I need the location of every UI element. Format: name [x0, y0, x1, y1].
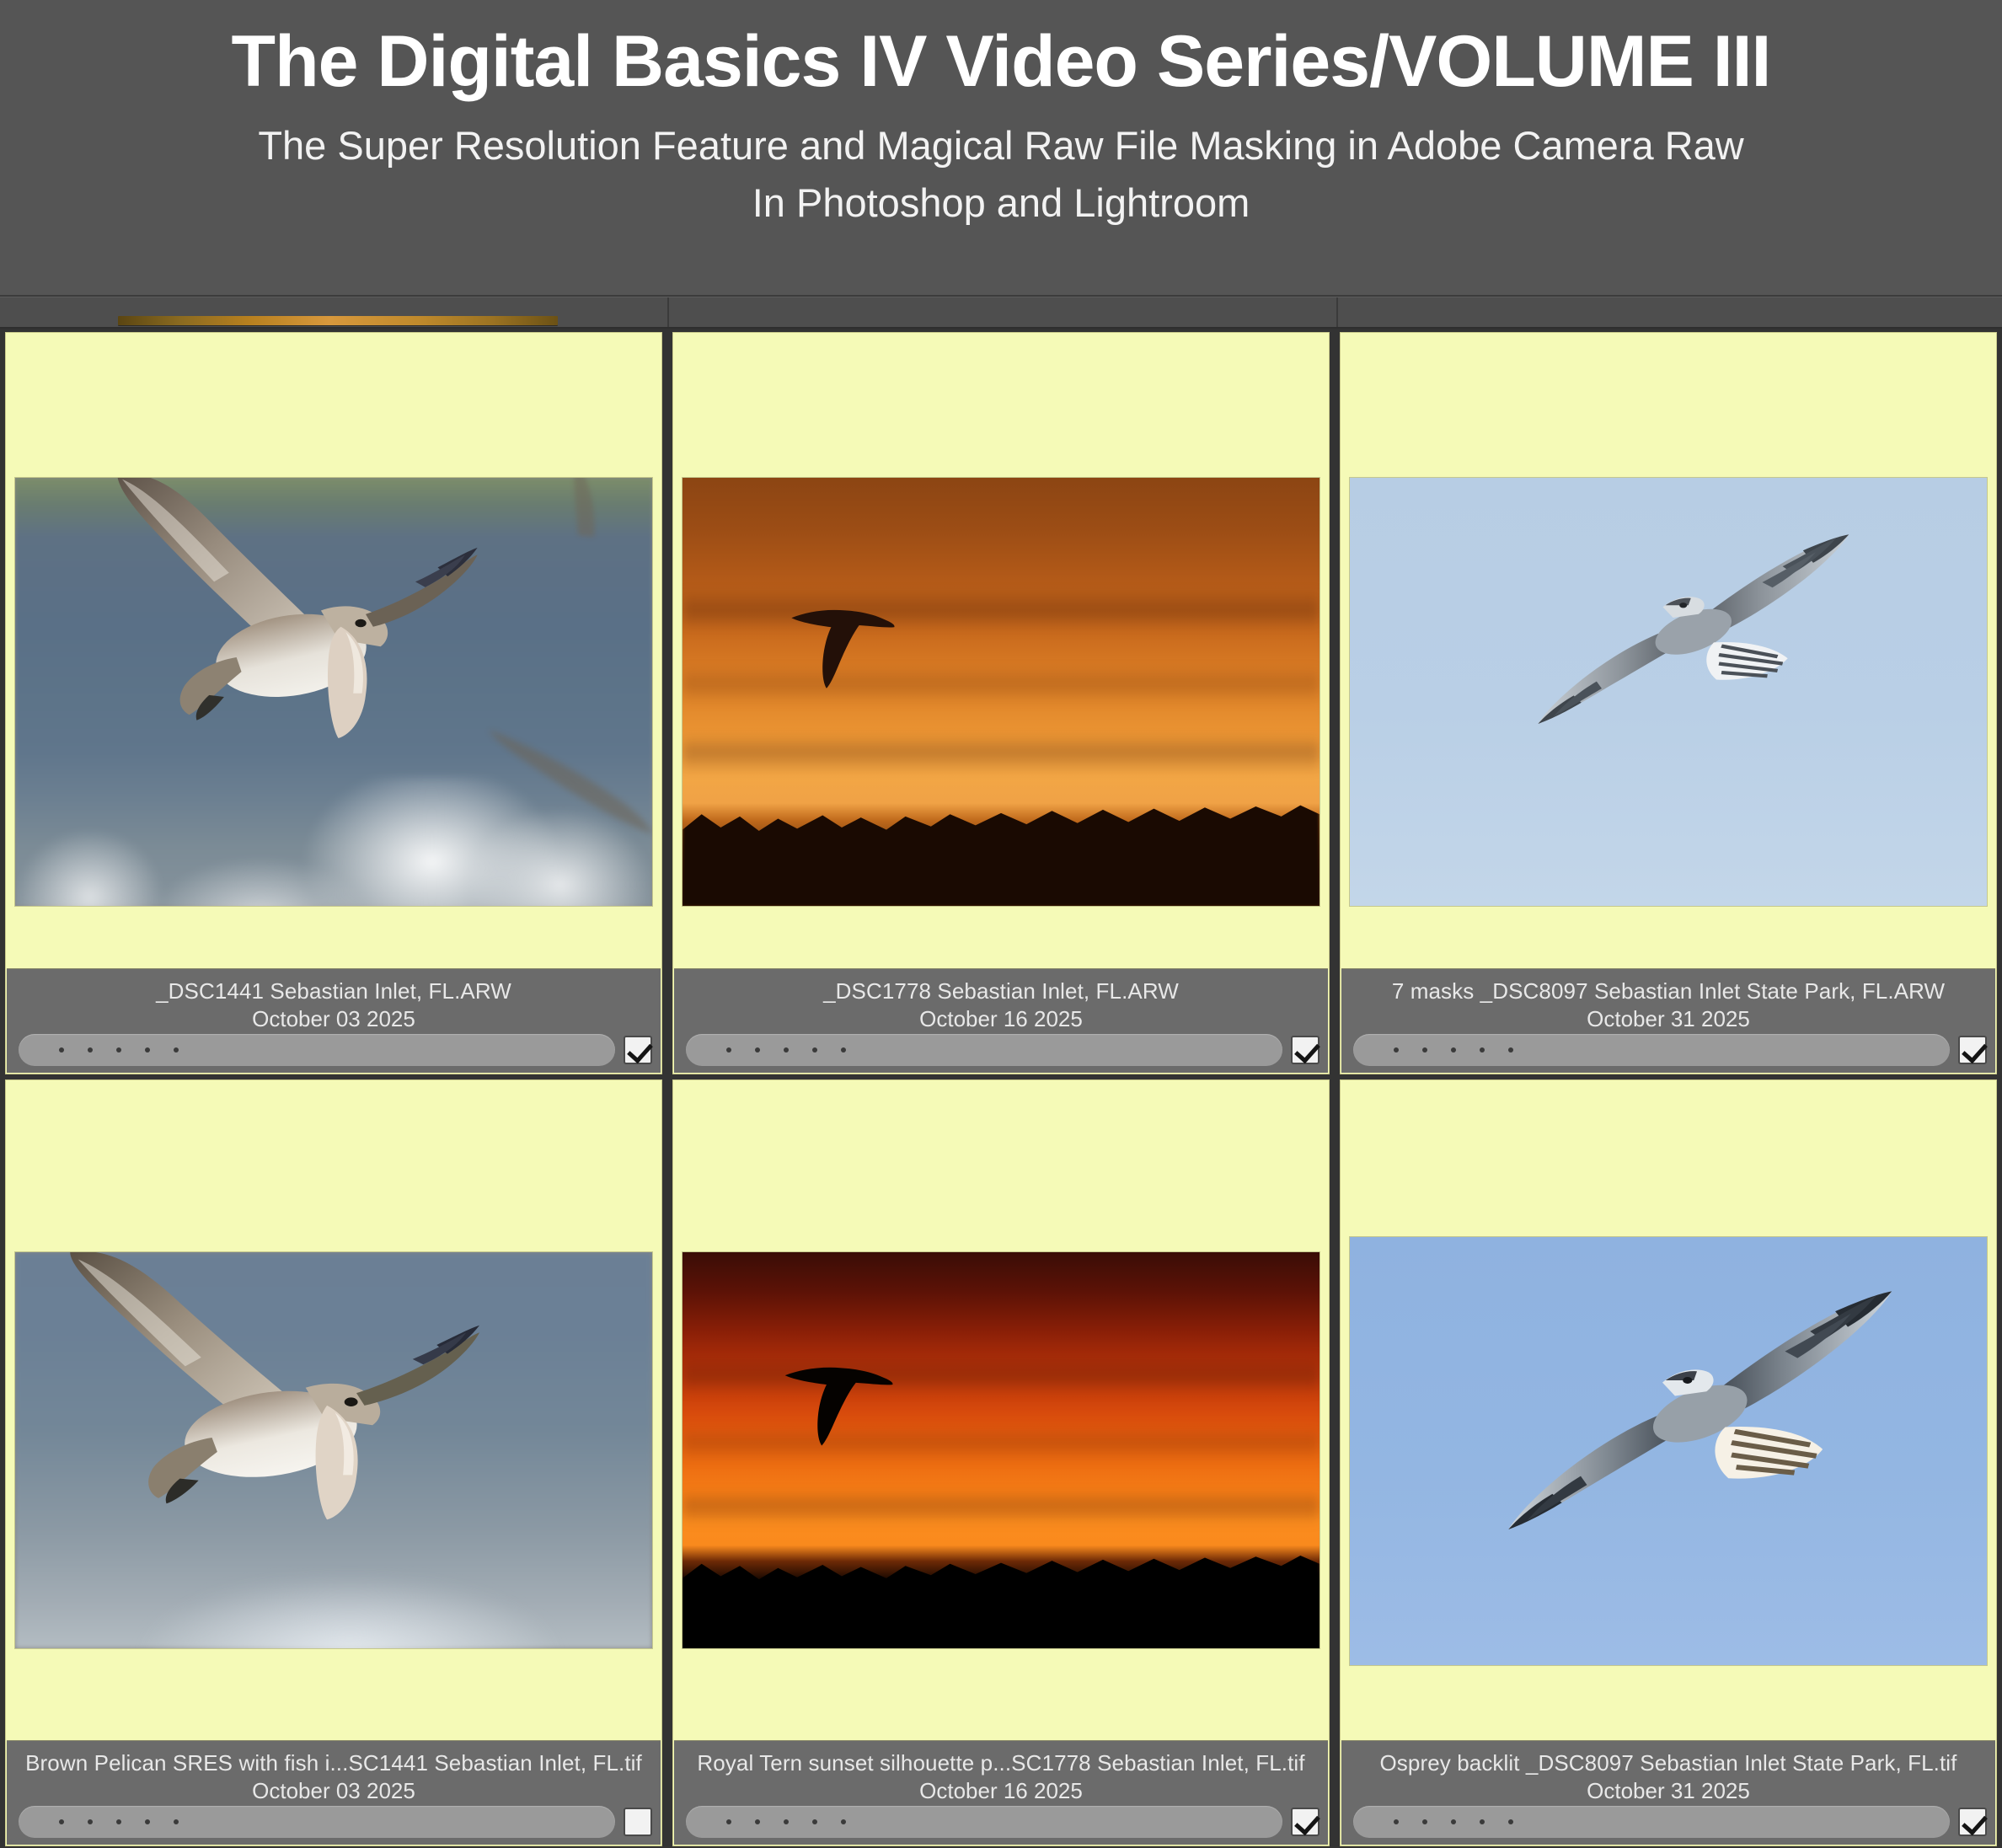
rating-dot[interactable]	[174, 1047, 179, 1053]
rating-dot[interactable]	[1480, 1819, 1485, 1824]
toolbar-segment-3	[1338, 297, 2002, 327]
rating-dot[interactable]	[1451, 1819, 1456, 1824]
caption-date: October 03 2025	[252, 1005, 415, 1033]
rating-dot[interactable]	[174, 1819, 179, 1824]
thumbnail-frame[interactable]: 7 masks _DSC8097 Sebastian Inlet State P…	[1340, 332, 1997, 1074]
rating-dot[interactable]	[841, 1047, 846, 1053]
rating-dot[interactable]	[1480, 1047, 1485, 1053]
rating-dot[interactable]	[1394, 1047, 1399, 1053]
thumbnail-frame[interactable]: Osprey backlit _DSC8097 Sebastian Inlet …	[1340, 1079, 1997, 1846]
application-window: The Digital Basics IV Video Series/VOLUM…	[0, 0, 2002, 1848]
rating-dot[interactable]	[755, 1819, 760, 1824]
caption-filename: Brown Pelican SRES with fish i...SC1441 …	[25, 1749, 642, 1777]
caption-date: October 31 2025	[1587, 1005, 1750, 1033]
select-checkbox[interactable]	[624, 1808, 652, 1836]
rating-dot[interactable]	[59, 1819, 64, 1824]
select-checkbox[interactable]	[1291, 1036, 1319, 1064]
photo-osprey-raw[interactable]	[1350, 478, 1987, 906]
rating-dot[interactable]	[88, 1047, 93, 1053]
rating-dot[interactable]	[784, 1047, 789, 1053]
photo-tern-sunset-raw[interactable]	[682, 478, 1319, 906]
rating-dot[interactable]	[1422, 1819, 1427, 1824]
thumbnail-caption: _DSC1778 Sebastian Inlet, FL.ARW October…	[674, 968, 1328, 1073]
thumbnail-frame[interactable]: _DSC1778 Sebastian Inlet, FL.ARW October…	[672, 332, 1330, 1074]
toolbar-segment-2	[669, 297, 1338, 327]
select-checkbox[interactable]	[624, 1036, 652, 1064]
rating-row[interactable]	[686, 1034, 1319, 1066]
caption-filename: _DSC1441 Sebastian Inlet, FL.ARW	[156, 978, 511, 1005]
page-subtitle-line-2: In Photoshop and Lightroom	[752, 179, 1250, 227]
photo-pelican-raw[interactable]	[15, 478, 652, 906]
thumbnail-cell-3[interactable]: 7 masks _DSC8097 Sebastian Inlet State P…	[1335, 329, 2002, 1076]
thumbnail-frame[interactable]: Brown Pelican SRES with fish i...SC1441 …	[5, 1079, 662, 1846]
caption-filename: 7 masks _DSC8097 Sebastian Inlet State P…	[1392, 978, 1945, 1005]
caption-date: October 31 2025	[1587, 1777, 1750, 1805]
orange-progress-bar[interactable]	[118, 316, 558, 325]
rating-dot[interactable]	[726, 1047, 731, 1053]
rating-bar[interactable]	[686, 1806, 1282, 1838]
rating-dot[interactable]	[1508, 1047, 1513, 1053]
rating-dot[interactable]	[145, 1819, 150, 1824]
rating-bar[interactable]	[1353, 1806, 1950, 1838]
tern-silhouette	[784, 597, 924, 709]
rating-dot[interactable]	[841, 1819, 846, 1824]
page-subtitle-line-1: The Super Resolution Feature and Magical…	[258, 121, 1743, 169]
toolbar-segment-1	[0, 297, 669, 327]
rating-row[interactable]	[1353, 1806, 1987, 1838]
toolbar-strip	[0, 297, 2002, 329]
rating-dot[interactable]	[1451, 1047, 1456, 1053]
thumbnail-caption: Royal Tern sunset silhouette p...SC1778 …	[674, 1740, 1328, 1845]
background-bird-blur	[474, 700, 652, 846]
rating-dot[interactable]	[88, 1819, 93, 1824]
photo-osprey-processed[interactable]	[1350, 1237, 1987, 1665]
thumbnail-caption: _DSC1441 Sebastian Inlet, FL.ARW October…	[7, 968, 661, 1073]
thumbnail-cell-1[interactable]: _DSC1441 Sebastian Inlet, FL.ARW October…	[0, 329, 667, 1076]
pelican-silhouette	[15, 1252, 525, 1593]
rating-dot[interactable]	[116, 1047, 121, 1053]
page-title: The Digital Basics IV Video Series/VOLUM…	[232, 24, 1771, 99]
caption-date: October 16 2025	[919, 1005, 1083, 1033]
rating-dot[interactable]	[116, 1819, 121, 1824]
rating-bar[interactable]	[686, 1034, 1282, 1066]
rating-row[interactable]	[1353, 1034, 1987, 1066]
select-checkbox[interactable]	[1291, 1808, 1319, 1836]
rating-dot[interactable]	[1508, 1819, 1513, 1824]
photo-tern-sunset-processed[interactable]	[682, 1252, 1319, 1648]
background-wing-blur	[525, 478, 627, 546]
thumbnail-caption: Brown Pelican SRES with fish i...SC1441 …	[7, 1740, 661, 1845]
rating-dot[interactable]	[1394, 1819, 1399, 1824]
rating-bar[interactable]	[19, 1034, 615, 1066]
rating-row[interactable]	[19, 1034, 652, 1066]
title-header: The Digital Basics IV Video Series/VOLUM…	[0, 0, 2002, 297]
rating-dot[interactable]	[812, 1819, 817, 1824]
thumbnail-frame[interactable]: _DSC1441 Sebastian Inlet, FL.ARW October…	[5, 332, 662, 1074]
rating-dot[interactable]	[755, 1047, 760, 1053]
rating-dot[interactable]	[726, 1819, 731, 1824]
thumbnail-caption: 7 masks _DSC8097 Sebastian Inlet State P…	[1341, 968, 1995, 1073]
caption-date: October 16 2025	[919, 1777, 1083, 1805]
photo-pelican-processed[interactable]	[15, 1252, 652, 1648]
thumbnail-caption: Osprey backlit _DSC8097 Sebastian Inlet …	[1341, 1740, 1995, 1845]
osprey-silhouette	[1502, 512, 1885, 777]
rating-row[interactable]	[686, 1806, 1319, 1838]
thumbnail-cell-2[interactable]: _DSC1778 Sebastian Inlet, FL.ARW October…	[667, 329, 1335, 1076]
rating-bar[interactable]	[1353, 1034, 1950, 1066]
rating-dot[interactable]	[1422, 1047, 1427, 1053]
caption-date: October 03 2025	[252, 1777, 415, 1805]
rating-dot[interactable]	[59, 1047, 64, 1053]
select-checkbox[interactable]	[1958, 1808, 1987, 1836]
thumbnail-cell-6[interactable]: Osprey backlit _DSC8097 Sebastian Inlet …	[1335, 1076, 2002, 1848]
caption-filename: _DSC1778 Sebastian Inlet, FL.ARW	[823, 978, 1179, 1005]
thumbnail-grid: _DSC1441 Sebastian Inlet, FL.ARW October…	[0, 329, 2002, 1848]
osprey-silhouette	[1464, 1262, 1935, 1596]
rating-row[interactable]	[19, 1806, 652, 1838]
rating-dot[interactable]	[812, 1047, 817, 1053]
rating-bar[interactable]	[19, 1806, 615, 1838]
caption-filename: Royal Tern sunset silhouette p...SC1778 …	[697, 1749, 1304, 1777]
select-checkbox[interactable]	[1958, 1036, 1987, 1064]
caption-filename: Osprey backlit _DSC8097 Sebastian Inlet …	[1379, 1749, 1956, 1777]
rating-dot[interactable]	[145, 1047, 150, 1053]
thumbnail-cell-5[interactable]: Royal Tern sunset silhouette p...SC1778 …	[667, 1076, 1335, 1848]
pelican-silhouette	[28, 478, 525, 829]
thumbnail-frame[interactable]: Royal Tern sunset silhouette p...SC1778 …	[672, 1079, 1330, 1846]
thumbnail-cell-4[interactable]: Brown Pelican SRES with fish i...SC1441 …	[0, 1076, 667, 1848]
tern-silhouette	[778, 1355, 924, 1466]
rating-dot[interactable]	[784, 1819, 789, 1824]
